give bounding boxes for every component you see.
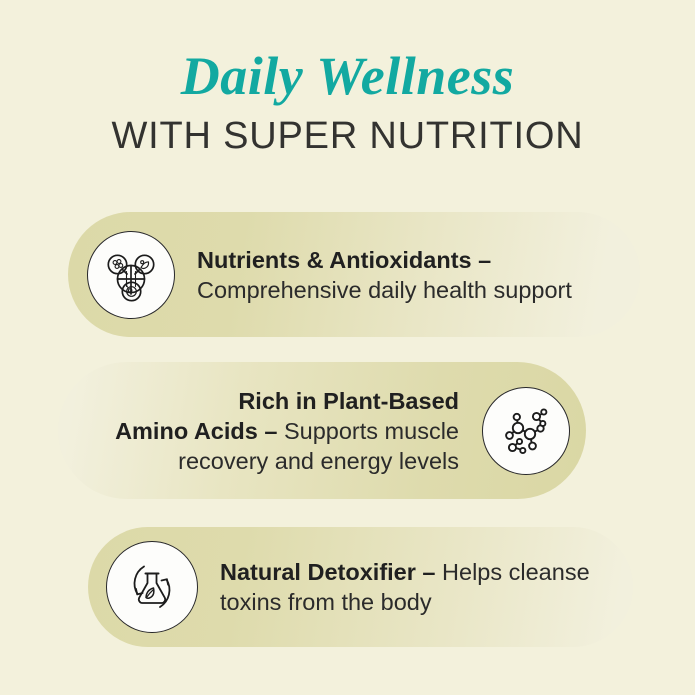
poster-root: Daily Wellness WITH SUPER NUTRITION [0, 0, 695, 695]
feature-card-nutrients-heading: Nutrients & Antioxidants [197, 247, 472, 273]
header: Daily Wellness WITH SUPER NUTRITION [0, 46, 695, 159]
feature-card-amino-acids-heading-line2: Amino Acids [115, 418, 258, 444]
feature-card-amino-acids-heading-line1: Rich in Plant-Based [238, 388, 459, 414]
feature-card-nutrients[interactable]: Nutrients & Antioxidants – Comprehensive… [68, 212, 640, 337]
feature-card-nutrients-text: Nutrients & Antioxidants – Comprehensive… [197, 245, 640, 305]
feature-card-amino-acids[interactable]: Rich in Plant-Based Amino Acids – Suppor… [58, 362, 586, 499]
feature-card-amino-acids-body-line1: Supports muscle [284, 418, 459, 444]
nutrients-molecule-icon [87, 231, 175, 319]
feature-card-nutrients-dash: – [472, 247, 492, 273]
detox-flask-leaf-icon [106, 541, 198, 633]
feature-card-amino-acids-text: Rich in Plant-Based Amino Acids – Suppor… [53, 386, 459, 476]
feature-card-detoxifier-dash: – [416, 559, 442, 585]
feature-card-amino-acids-body-line2: recovery and energy levels [178, 448, 459, 474]
amino-acid-molecule-icon [482, 387, 570, 475]
feature-card-detoxifier-body-line2: toxins from the body [220, 589, 432, 615]
feature-card-nutrients-body: Comprehensive daily health support [197, 277, 572, 303]
feature-card-detoxifier-text: Natural Detoxifier – Helps cleanse toxin… [220, 557, 633, 617]
page-title: Daily Wellness [0, 46, 695, 106]
page-subtitle: WITH SUPER NUTRITION [0, 113, 695, 159]
feature-card-detoxifier-body-line1: Helps cleanse [442, 559, 590, 585]
feature-card-amino-acids-dash: – [258, 418, 284, 444]
feature-card-detoxifier[interactable]: Natural Detoxifier – Helps cleanse toxin… [88, 527, 633, 647]
feature-card-detoxifier-heading: Natural Detoxifier [220, 559, 416, 585]
